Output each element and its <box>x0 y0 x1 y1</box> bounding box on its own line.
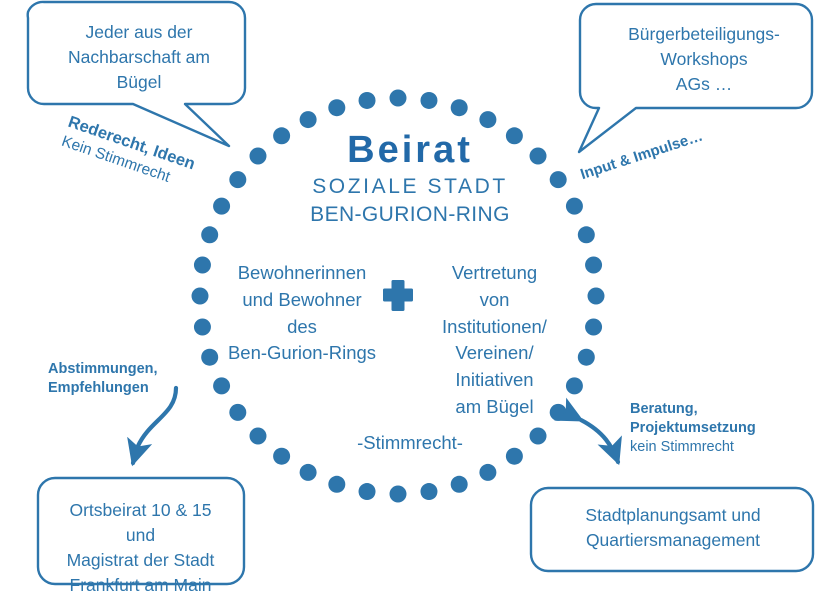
label-beratung-regular: kein Stimmrecht <box>630 438 820 457</box>
column-institutions: Vertretung von Institutionen/ Vereinen/ … <box>412 260 577 421</box>
box-bottom-left-line: Magistrat der Stadt <box>38 548 243 573</box>
ring-dot <box>588 288 605 305</box>
bubble-top-left-line: Jeder aus der <box>34 20 244 45</box>
subtitle-ben-gurion-ring: BEN-GURION-RING <box>0 203 820 228</box>
label-abstimmungen-empfehlungen: Abstimmungen, Empfehlungen <box>48 360 228 398</box>
ring-dot <box>390 486 407 503</box>
ring-dot <box>359 92 376 109</box>
ring-dot <box>328 99 345 116</box>
ring-dot <box>229 404 246 421</box>
ring-dot <box>451 476 468 493</box>
column-residents-line: Bewohnerinnen <box>212 260 392 287</box>
box-bottom-left-line: Ortsbeirat 10 & 15 <box>38 498 243 523</box>
column-institutions-line: Initiativen <box>412 367 577 394</box>
ring-dot <box>479 111 496 128</box>
ring-dot <box>585 318 602 335</box>
ring-dot <box>201 226 218 243</box>
ring-dot <box>359 483 376 500</box>
box-bottom-left-text: Ortsbeirat 10 & 15 und Magistrat der Sta… <box>38 498 243 597</box>
subtitle-soziale-stadt: SOZIALE STADT <box>0 175 820 200</box>
column-institutions-line: Institutionen/ <box>412 314 577 341</box>
column-residents: Bewohnerinnen und Bewohner des Ben-Gurio… <box>212 260 392 367</box>
label-beratung-line: Beratung, <box>630 400 820 419</box>
column-institutions-line: Vertretung <box>412 260 577 287</box>
box-bottom-right-text: Stadtplanungsamt und Quartiersmanagement <box>534 503 812 553</box>
ring-dot <box>585 257 602 274</box>
box-bottom-left-line: und <box>38 523 243 548</box>
box-bottom-right-line: Stadtplanungsamt und <box>534 503 812 528</box>
label-beratung-projektumsetzung: Beratung, Projektumsetzung kein Stimmrec… <box>630 400 820 457</box>
ring-dot <box>192 288 209 305</box>
bubble-top-right-line: Workshops <box>604 47 804 72</box>
column-institutions-line: von <box>412 287 577 314</box>
bubble-top-left-text: Jeder aus der Nachbarschaft am Bügel <box>34 20 244 95</box>
diagram-canvas: Beirat SOZIALE STADT BEN-GURION-RING Bew… <box>0 0 820 600</box>
ring-dot <box>479 464 496 481</box>
box-bottom-right-line: Quartiersmanagement <box>534 528 812 553</box>
ring-dot <box>420 92 437 109</box>
box-bottom-left-line: Frankfurt am Main <box>38 573 243 598</box>
label-beratung-line: Projektumsetzung <box>630 419 820 438</box>
column-residents-line: Ben-Gurion-Rings <box>212 340 392 367</box>
bubble-top-left-line: Nachbarschaft am <box>34 45 244 70</box>
label-abstimmungen-line: Abstimmungen, <box>48 360 228 379</box>
bubble-top-right-text: Bürgerbeteiligungs- Workshops AGs … <box>604 22 804 97</box>
column-institutions-line: Vereinen/ <box>412 340 577 367</box>
column-residents-line: und Bewohner <box>212 287 392 314</box>
ring-dot <box>578 226 595 243</box>
ring-dot <box>328 476 345 493</box>
ring-dot <box>420 483 437 500</box>
ring-dot <box>194 257 211 274</box>
label-abstimmungen-line: Empfehlungen <box>48 379 228 398</box>
bubble-top-right-line: AGs … <box>604 72 804 97</box>
ring-dot <box>194 318 211 335</box>
column-residents-line: des <box>212 314 392 341</box>
ring-dot <box>300 464 317 481</box>
ring-dot <box>578 349 595 366</box>
bubble-top-right-line: Bürgerbeteiligungs- <box>604 22 804 47</box>
ring-dot <box>300 111 317 128</box>
ring-dot <box>451 99 468 116</box>
bubble-top-left-line: Bügel <box>34 70 244 95</box>
ring-dot <box>390 90 407 107</box>
column-institutions-line: am Bügel <box>412 394 577 421</box>
